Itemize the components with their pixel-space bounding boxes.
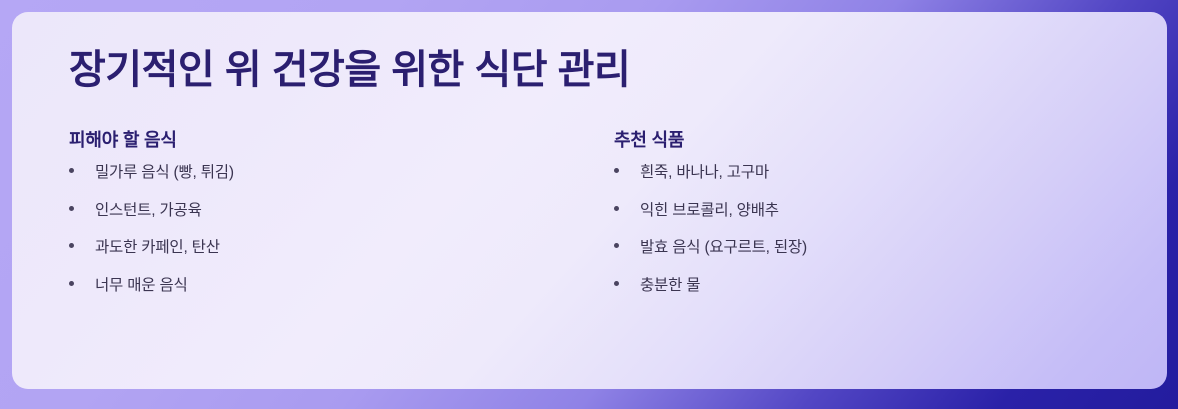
bullet-dot-icon bbox=[69, 168, 74, 173]
column-heading-recommended-foods: 추천 식품 bbox=[614, 126, 1134, 152]
bullet-dot-icon bbox=[69, 206, 74, 211]
outer-gradient-frame: 장기적인 위 건강을 위한 식단 관리 피해야 할 음식 밀가루 음식 (빵, … bbox=[0, 0, 1178, 409]
two-column-layout: 피해야 할 음식 밀가루 음식 (빵, 튀김) 인스턴트, 가공육 과도한 카페… bbox=[69, 126, 1111, 295]
list-item: 인스턴트, 가공육 bbox=[69, 202, 614, 221]
page-title: 장기적인 위 건강을 위한 식단 관리 bbox=[69, 46, 1111, 94]
list-item-label: 발효 음식 (요구르트, 된장) bbox=[640, 239, 1134, 258]
list-item: 익힌 브로콜리, 양배추 bbox=[614, 202, 1134, 221]
list-item: 밀가루 음식 (빵, 튀김) bbox=[69, 164, 614, 183]
bullet-dot-icon bbox=[614, 243, 619, 248]
list-foods-to-avoid: 밀가루 음식 (빵, 튀김) 인스턴트, 가공육 과도한 카페인, 탄산 너무 … bbox=[69, 164, 614, 295]
bullet-dot-icon bbox=[69, 281, 74, 286]
bullet-dot-icon bbox=[614, 281, 619, 286]
bullet-dot-icon bbox=[69, 243, 74, 248]
list-item-label: 인스턴트, 가공육 bbox=[95, 202, 614, 221]
list-item: 발효 음식 (요구르트, 된장) bbox=[614, 239, 1134, 258]
list-recommended-foods: 흰죽, 바나나, 고구마 익힌 브로콜리, 양배추 발효 음식 (요구르트, 된… bbox=[614, 164, 1134, 295]
list-item: 흰죽, 바나나, 고구마 bbox=[614, 164, 1134, 183]
bullet-dot-icon bbox=[614, 206, 619, 211]
column-foods-to-avoid: 피해야 할 음식 밀가루 음식 (빵, 튀김) 인스턴트, 가공육 과도한 카페… bbox=[69, 126, 614, 295]
column-heading-foods-to-avoid: 피해야 할 음식 bbox=[69, 126, 614, 152]
list-item: 너무 매운 음식 bbox=[69, 277, 614, 296]
list-item-label: 밀가루 음식 (빵, 튀김) bbox=[95, 164, 614, 183]
list-item: 충분한 물 bbox=[614, 277, 1134, 296]
column-recommended-foods: 추천 식품 흰죽, 바나나, 고구마 익힌 브로콜리, 양배추 발효 음식 (요… bbox=[614, 126, 1134, 295]
list-item-label: 너무 매운 음식 bbox=[95, 277, 614, 296]
bullet-dot-icon bbox=[614, 168, 619, 173]
diet-management-card: 장기적인 위 건강을 위한 식단 관리 피해야 할 음식 밀가루 음식 (빵, … bbox=[12, 12, 1167, 389]
list-item-label: 충분한 물 bbox=[640, 277, 1134, 296]
list-item-label: 익힌 브로콜리, 양배추 bbox=[640, 202, 1134, 221]
list-item-label: 흰죽, 바나나, 고구마 bbox=[640, 164, 1134, 183]
list-item-label: 과도한 카페인, 탄산 bbox=[95, 239, 614, 258]
list-item: 과도한 카페인, 탄산 bbox=[69, 239, 614, 258]
